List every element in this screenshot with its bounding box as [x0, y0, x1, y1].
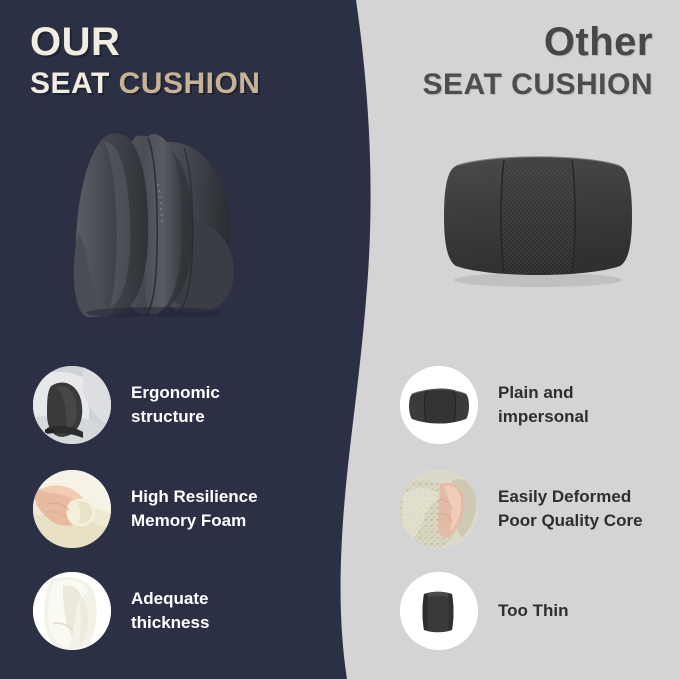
thin-pillow-photo-illustration: [400, 572, 478, 650]
plain-pillow-illustration: [438, 140, 638, 290]
our-feature-1-line1: Ergonomic: [131, 381, 220, 405]
our-heading-cushion: CUSHION: [119, 67, 261, 100]
memory-foam-photo-illustration: [33, 470, 111, 548]
our-feature-1: Ergonomic structure: [33, 366, 220, 444]
other-feature-1-text: Plain and impersonal: [498, 381, 589, 429]
thin-black-pillow-icon: [400, 572, 478, 650]
our-feature-2-text: High Resilience Memory Foam: [131, 485, 258, 533]
other-feature-2-line1: Easily Deformed: [498, 485, 643, 509]
our-feature-3-line2: thickness: [131, 611, 209, 635]
hand-pressing-lumpy-foam-icon: [400, 470, 478, 548]
other-feature-2: Easily Deformed Poor Quality Core: [400, 470, 643, 548]
plain-black-pillow-icon: [400, 366, 478, 444]
other-feature-1-line1: Plain and: [498, 381, 589, 405]
other-feature-2-line2: Poor Quality Core: [498, 509, 643, 533]
other-feature-3-line1: Too Thin: [498, 599, 569, 623]
plain-pillow-photo-illustration: [400, 366, 478, 444]
our-feature-2: High Resilience Memory Foam: [33, 470, 258, 548]
other-heading-line2: SEAT CUSHION: [423, 70, 653, 100]
our-product-heading: OUR SEAT CUSHION: [30, 22, 260, 99]
our-feature-1-line2: structure: [131, 405, 220, 429]
poor-quality-foam-photo-illustration: [400, 470, 478, 548]
our-feature-3-line1: Adequate: [131, 587, 209, 611]
our-feature-2-line2: Memory Foam: [131, 509, 258, 533]
other-feature-2-text: Easily Deformed Poor Quality Core: [498, 485, 643, 533]
our-heading-line1: OUR: [30, 22, 260, 62]
other-feature-3-text: Too Thin: [498, 599, 569, 623]
thick-white-foam-icon: [33, 572, 111, 650]
other-feature-1: Plain and impersonal: [400, 366, 589, 444]
other-heading-line1: Other: [423, 22, 653, 62]
other-cushion-hero-image: [438, 140, 638, 290]
other-product-heading: Other SEAT CUSHION: [423, 22, 653, 100]
other-feature-1-line2: impersonal: [498, 405, 589, 429]
comparison-infographic: OUR SEAT CUSHION Other SEAT CUSHION: [0, 0, 679, 679]
our-heading-line2: SEAT CUSHION: [30, 69, 260, 99]
our-feature-1-text: Ergonomic structure: [131, 381, 220, 429]
hand-pressing-memory-foam-icon: [33, 470, 111, 548]
our-feature-3-text: Adequate thickness: [131, 587, 209, 635]
foam-thickness-photo-illustration: [33, 572, 111, 650]
our-heading-seat: SEAT: [30, 67, 119, 100]
cushion-on-car-seat-icon: [33, 366, 111, 444]
our-feature-3: Adequate thickness: [33, 572, 209, 650]
other-feature-3: Too Thin: [400, 572, 569, 650]
our-feature-2-line1: High Resilience: [131, 485, 258, 509]
our-cushion-hero-image: [58, 112, 268, 317]
ergonomic-cushion-illustration: [58, 112, 268, 317]
car-seat-photo-illustration: [33, 366, 111, 444]
